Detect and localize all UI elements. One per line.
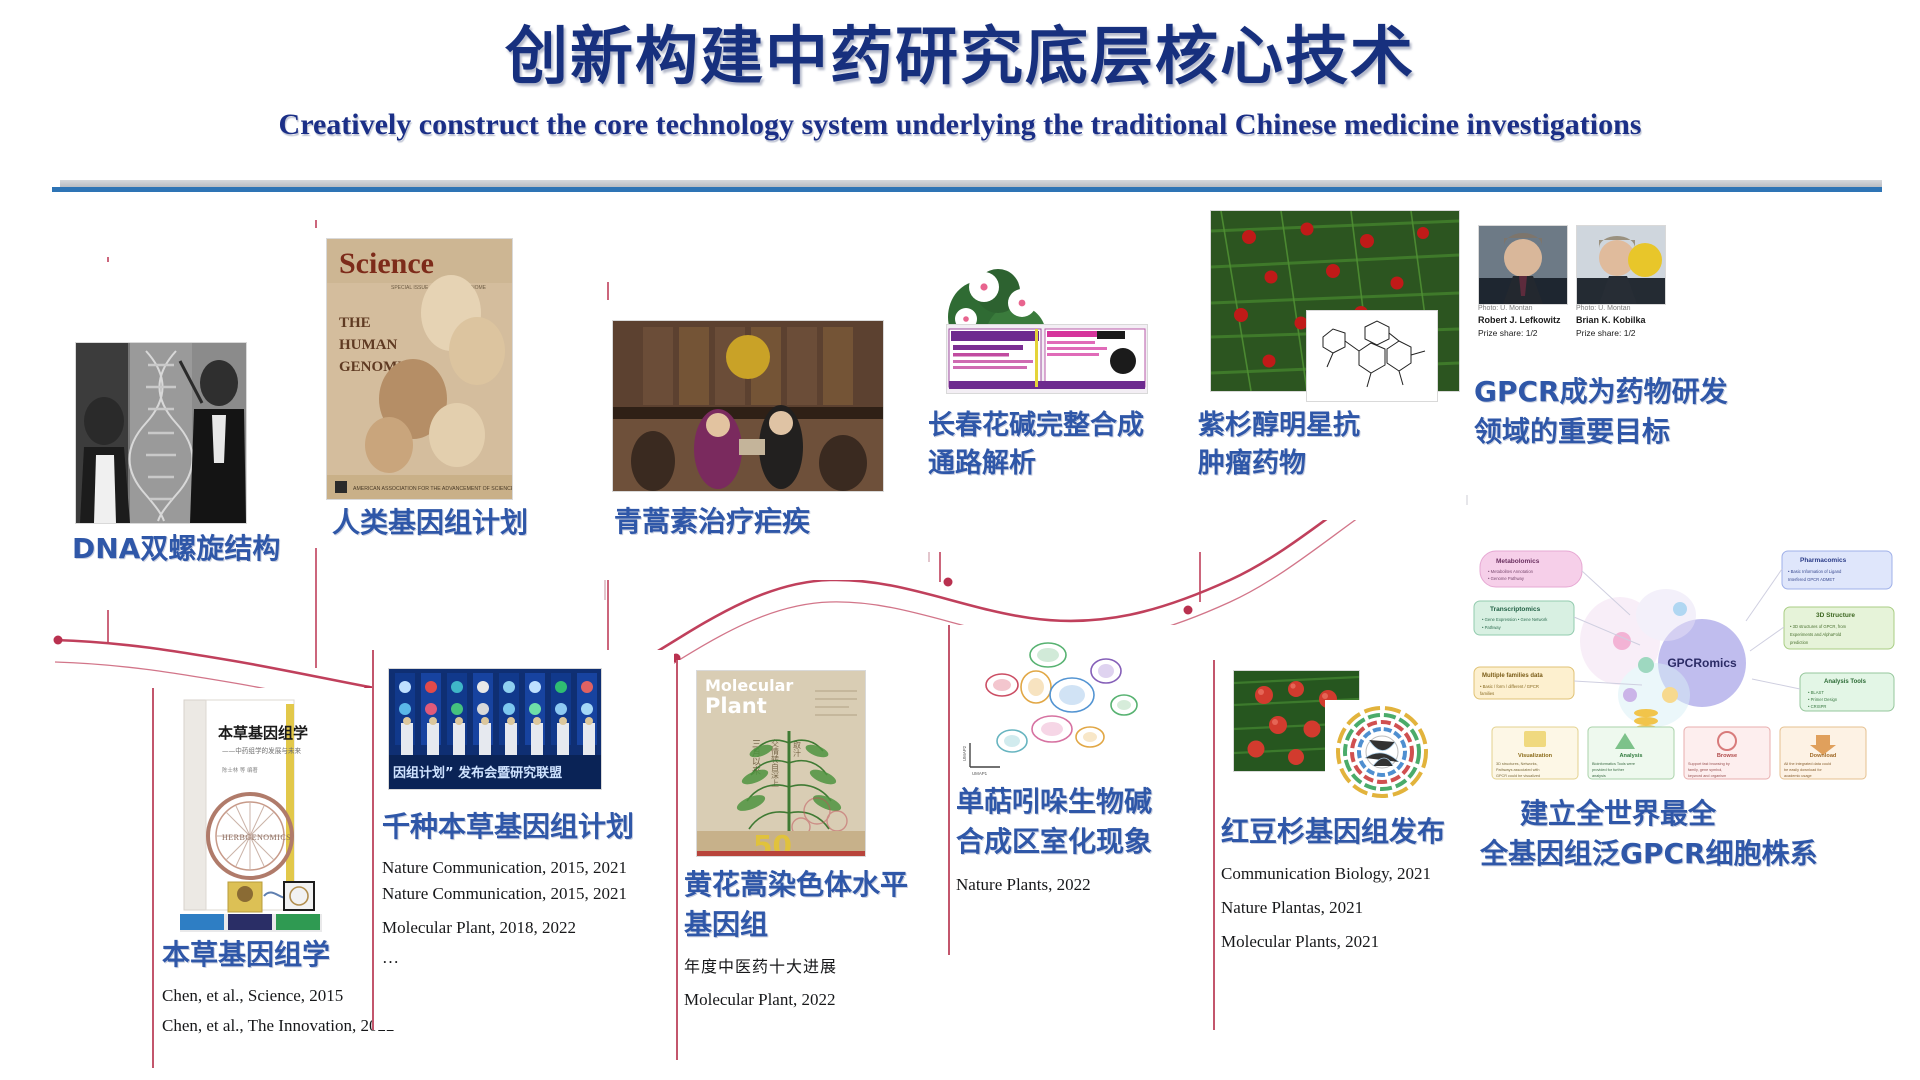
svg-text:prediction: prediction [1790,640,1809,645]
svg-text:UMAP2: UMAP2 [962,745,967,761]
svg-text:——中药组学的发展与未来: ——中药组学的发展与未来 [222,746,302,755]
svg-text:• Genome Pathway: • Genome Pathway [1488,576,1525,581]
ref-artemisia-1: 年度中医药十大进展 [684,952,837,982]
svg-text:3D Structure: 3D Structure [1816,612,1855,619]
svg-text:be easily download for: be easily download for [1784,768,1823,772]
caption-gpcromics-l2: 全基因组泛GPCR细胞株系 [1480,837,1818,871]
svg-text:• Primer Design: • Primer Design [1808,697,1838,702]
svg-text:academic usage: academic usage [1784,774,1812,778]
caption-mia-l1: 单萜吲哚生物碱 [956,785,1152,819]
laureate-share-2: Prize share: 1/2 [1576,328,1636,338]
science-cover-photo: Science SPECIAL ISSUE · THE HUMAN GENOME… [326,238,513,500]
card-artemisia-genome[interactable]: Molecular Plant 三月以来 交情转自深上 取汁 [676,660,948,1060]
svg-text:3D structures, Networks,: 3D structures, Networks, [1496,762,1538,766]
herbgenomics-book-photo: 本草基因组学 ——中药组学的发展与未来 陈士林 等 编著 HERBGENOMIC… [178,696,318,916]
svg-text:Support fast browsing by: Support fast browsing by [1688,762,1730,766]
laureate-photo-kobilka [1576,225,1666,305]
herbgenomics-color-chips [180,914,322,932]
svg-text:UMAP1: UMAP1 [972,771,988,776]
caption-gpcr-target-l2: 领域的重要目标 [1474,415,1670,449]
caption-taxus-genome: 红豆杉基因组发布 [1221,815,1445,849]
caption-mia-l2: 合成区室化现象 [956,825,1152,859]
paclitaxel-structure [1306,310,1438,402]
svg-text:• Pathway: • Pathway [1482,625,1502,630]
svg-text:• Basic / form / different / G: • Basic / form / different / GPCR [1480,684,1539,689]
svg-text:Pharmacomics: Pharmacomics [1800,557,1847,564]
card-herbgenomics[interactable]: 本草基因组学 ——中药组学的发展与未来 陈士林 等 编著 HERBGENOMIC… [152,688,374,1068]
caption-herbgenomics: 本草基因组学 [162,938,330,972]
svg-text:provided for further: provided for further [1592,768,1625,772]
svg-text:Interfered GPCR ADMET: Interfered GPCR ADMET [1788,577,1835,582]
caption-vinblastine-l2: 通路解析 [928,448,1036,481]
svg-text:analysis: analysis [1592,774,1606,778]
svg-text:Multiple families data: Multiple families data [1482,673,1543,679]
svg-text:families: families [1480,691,1494,696]
caption-paclitaxel-l2: 肿瘤药物 [1198,448,1306,481]
header-divider [52,180,1882,194]
ref-artemisia-2: Molecular Plant, 2022 [684,984,836,1015]
card-gpcr-target[interactable]: Photo: U. Montan Robert J. Lefkowitz Pri… [1466,205,1866,495]
svg-text:Analysis: Analysis [1619,753,1642,759]
laureate-share-1: Prize share: 1/2 [1478,328,1538,338]
laureate-name-1: Robert J. Lefkowitz [1478,315,1561,325]
svg-text:交情转自深上: 交情转自深上 [771,738,780,787]
molecular-plant-cover-photo: Molecular Plant 三月以来 交情转自深上 取汁 [696,670,866,857]
nobel-ceremony-photo [612,320,884,492]
ref-taxus-3: Molecular Plants, 2021 [1221,926,1379,957]
svg-text:Experiments and AlphaFold: Experiments and AlphaFold [1790,632,1842,637]
caption-gpcromics-l1: 建立全世界最全 [1520,797,1716,831]
divider-grey-band [60,180,1882,187]
svg-text:Metabolomics: Metabolomics [1496,558,1540,565]
svg-text:Visualization: Visualization [1518,753,1553,759]
dna-photo [75,342,247,524]
svg-text:本草基因组学: 本草基因组学 [218,724,308,742]
svg-text:THE: THE [339,315,371,331]
card-dna[interactable]: DNA双螺旋结构 [62,262,312,610]
caption-artemisia-l2: 基因组 [684,908,768,942]
svg-text:• Basic Information of Ligand: • Basic Information of Ligand [1788,569,1842,574]
svg-text:keyword and organism: keyword and organism [1688,774,1726,778]
svg-text:family, gene symbol,: family, gene symbol, [1688,768,1722,772]
svg-text:AMERICAN ASSOCIATION FOR THE A: AMERICAN ASSOCIATION FOR THE ADVANCEMENT… [353,486,512,492]
svg-text:• BLAST: • BLAST [1808,690,1824,695]
ref-taxus-1: Communication Biology, 2021 [1221,858,1431,889]
ref-1k-4: … [382,942,399,973]
card-human-genome[interactable]: Science SPECIAL ISSUE · THE HUMAN GENOME… [310,228,590,548]
card-paclitaxel[interactable]: 紫杉醇明星抗 肿瘤药物 [1196,210,1466,520]
svg-text:GPCR could be visualized: GPCR could be visualized [1496,774,1540,778]
ref-herbgenomics-2: Chen, et al., The Innovation, 2022 [162,1010,394,1041]
svg-text:Analysis Tools: Analysis Tools [1824,679,1867,685]
page-title-en: Creatively construct the core technology… [0,108,1920,142]
svg-text:HERBGENOMICS: HERBGENOMICS [222,833,291,842]
svg-text:• Metabolites Annotation: • Metabolites Annotation [1488,569,1534,574]
caption-artemisia-l1: 黄花蒿染色体水平 [684,868,908,902]
ref-herbgenomics-1: Chen, et al., Science, 2015 [162,980,343,1011]
svg-text:GPCRomics: GPCRomics [1667,656,1737,670]
card-1k-herb-genomes[interactable]: 因组计划” 发布会暨研究联盟 千种本草基因组计划 Nature Communic… [372,650,674,1030]
caption-dna: DNA双螺旋结构 [72,532,280,566]
svg-text:• CRISPR: • CRISPR [1808,704,1826,709]
laureate-name-2: Brian K. Kobilka [1576,315,1646,325]
svg-text:Plant: Plant [705,694,767,718]
svg-text:HUMAN: HUMAN [339,337,397,353]
svg-text:取汁: 取汁 [793,741,802,758]
svg-text:Bioinformatics Tools were: Bioinformatics Tools were [1592,762,1635,766]
umap-cluster-plot: UMAP2 UMAP1 [956,625,1166,785]
card-artemisinin[interactable]: 青蒿素治疗疟疾 [604,300,894,580]
laureate-photo-lefkowitz [1478,225,1568,305]
ref-mia-1: Nature Plants, 2022 [956,869,1091,900]
launch-ceremony-photo: 因组计划” 发布会暨研究联盟 [388,668,602,790]
card-gpcromics[interactable]: GPCRomics [1460,545,1910,945]
svg-text:Download: Download [1810,753,1837,759]
svg-text:Molecular: Molecular [705,676,793,695]
svg-text:• 3D structures of GPCR, from: • 3D structures of GPCR, from [1790,624,1847,629]
svg-text:陈士林 等 编著: 陈士林 等 编著 [222,766,258,774]
caption-artemisinin: 青蒿素治疗疟疾 [614,505,810,539]
caption-1k-herb-genomes: 千种本草基因组计划 [382,810,634,844]
ref-1k-3: Molecular Plant, 2018, 2022 [382,912,576,943]
vinblastine-label-photo [946,324,1148,394]
card-taxus-genome[interactable]: 红豆杉基因组发布 Communication Biology, 2021 Nat… [1213,660,1465,1030]
laureate-credit-2: Photo: U. Montan [1576,305,1630,312]
svg-text:Pathways associated with: Pathways associated with [1496,768,1539,772]
svg-text:• Gene Expression • Gene Netw: • Gene Expression • Gene Network [1482,617,1548,622]
circular-genome-map [1325,700,1440,805]
caption-paclitaxel-l1: 紫杉醇明星抗 [1198,410,1360,443]
svg-text:Transcriptomics: Transcriptomics [1490,606,1541,613]
caption-human-genome: 人类基因组计划 [332,506,528,540]
gpcromics-diagram: GPCRomics [1470,545,1900,795]
svg-text:Browse: Browse [1717,753,1737,759]
card-vinblastine[interactable]: 长春花碱完整合成 通路解析 [928,262,1208,552]
caption-vinblastine-l1: 长春花碱完整合成 [928,410,1144,443]
svg-text:Science: Science [339,247,434,280]
ref-taxus-2: Nature Plantas, 2021 [1221,892,1363,923]
svg-text:因组计划” 发布会暨研究联盟: 因组计划” 发布会暨研究联盟 [393,765,562,781]
page-title-cn: 创新构建中药研究底层核心技术 [0,6,1920,97]
caption-gpcr-target-l1: GPCR成为药物研发 [1474,375,1728,409]
laureate-credit-1: Photo: U. Montan [1478,305,1532,312]
divider-blue-band [52,187,1882,192]
card-mia[interactable]: UMAP2 UMAP1 单萜吲哚生物碱 合成区室化现象 Nature Plant… [948,625,1220,955]
ref-1k-2: Nature Communication, 2015, 2021 [382,878,627,909]
slide-root: 创新构建中药研究底层核心技术 Creatively construct the … [0,0,1920,1080]
svg-text:All the integrated data could: All the integrated data could [1784,762,1831,766]
